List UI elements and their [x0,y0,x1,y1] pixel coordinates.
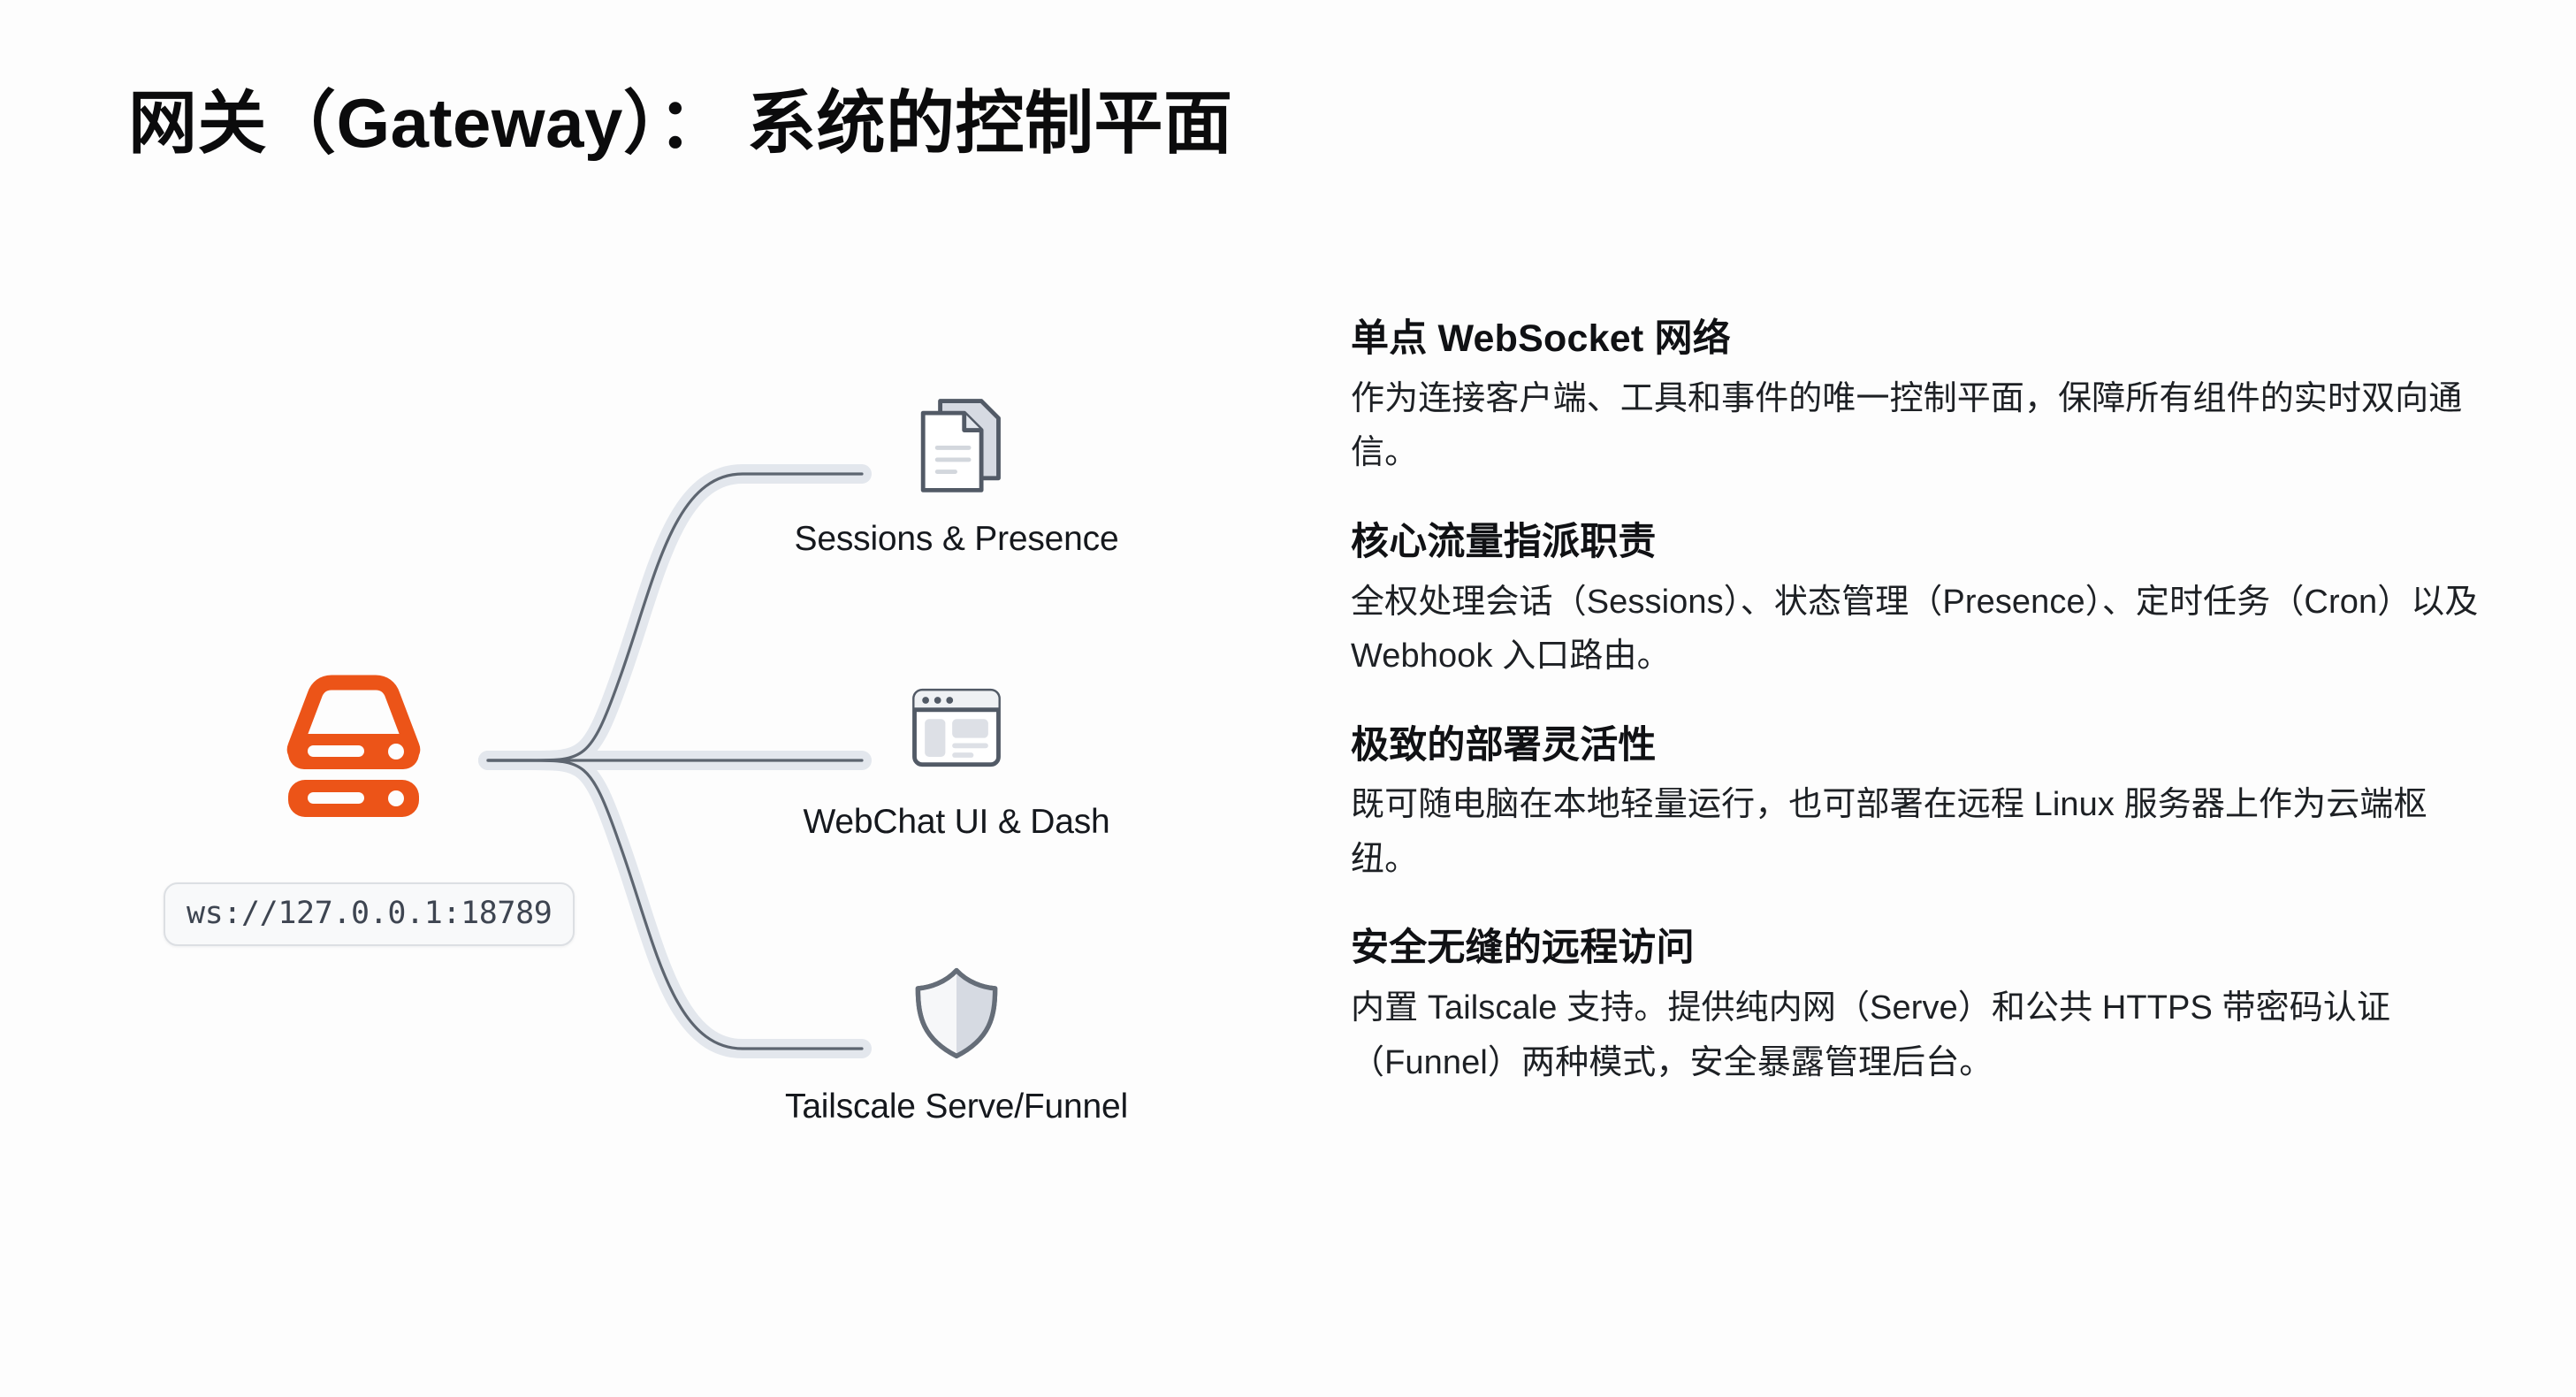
feature-item: 安全无缝的远程访问 内置 Tailscale 支持。提供纯内网（Serve）和公… [1351,926,2491,1090]
feature-heading: 单点 WebSocket 网络 [1351,317,2491,362]
documents-icon [901,389,1012,500]
feature-item: 核心流量指派职责 全权处理会话（Sessions）、状态管理（Presence）… [1351,520,2491,684]
feature-body: 既可随电脑在本地轻量运行，也可部署在远程 Linux 服务器上作为云端枢纽。 [1351,778,2491,887]
gateway-endpoint-badge[interactable]: ws://127.0.0.1:18789 [164,882,575,946]
feature-heading: 极致的部署灵活性 [1351,723,2491,768]
gateway-server-node[interactable] [265,672,442,822]
node-tailscale-serve-funnel[interactable]: Tailscale Serve/Funnel [727,957,1186,1126]
node-label: WebChat UI & Dash [727,803,1186,842]
shield-icon [901,957,1012,1068]
node-label: Tailscale Serve/Funnel [727,1088,1186,1126]
feature-heading: 核心流量指派职责 [1351,520,2491,565]
feature-body: 全权处理会话（Sessions）、状态管理（Presence）、定时任务（Cro… [1351,576,2491,684]
gateway-diagram: ws://127.0.0.1:18789 Sessions & Presence [0,292,1291,1264]
server-rack-icon [265,672,442,822]
slide-root: 网关（Gateway）： 系统的控制平面 [0,0,2576,1397]
browser-window-icon [901,672,1012,783]
feature-heading: 安全无缝的远程访问 [1351,926,2491,971]
feature-list: 单点 WebSocket 网络 作为连接客户端、工具和事件的唯一控制平面，保障所… [1351,317,2491,1090]
node-label: Sessions & Presence [727,520,1186,559]
feature-item: 极致的部署灵活性 既可随电脑在本地轻量运行，也可部署在远程 Linux 服务器上… [1351,723,2491,888]
node-webchat-dashboard[interactable]: WebChat UI & Dash [727,672,1186,842]
feature-body: 内置 Tailscale 支持。提供纯内网（Serve）和公共 HTTPS 带密… [1351,981,2491,1090]
node-sessions-presence[interactable]: Sessions & Presence [727,389,1186,559]
feature-item: 单点 WebSocket 网络 作为连接客户端、工具和事件的唯一控制平面，保障所… [1351,317,2491,481]
page-title: 网关（Gateway）： 系统的控制平面 [128,85,1233,162]
feature-body: 作为连接客户端、工具和事件的唯一控制平面，保障所有组件的实时双向通信。 [1351,372,2491,481]
